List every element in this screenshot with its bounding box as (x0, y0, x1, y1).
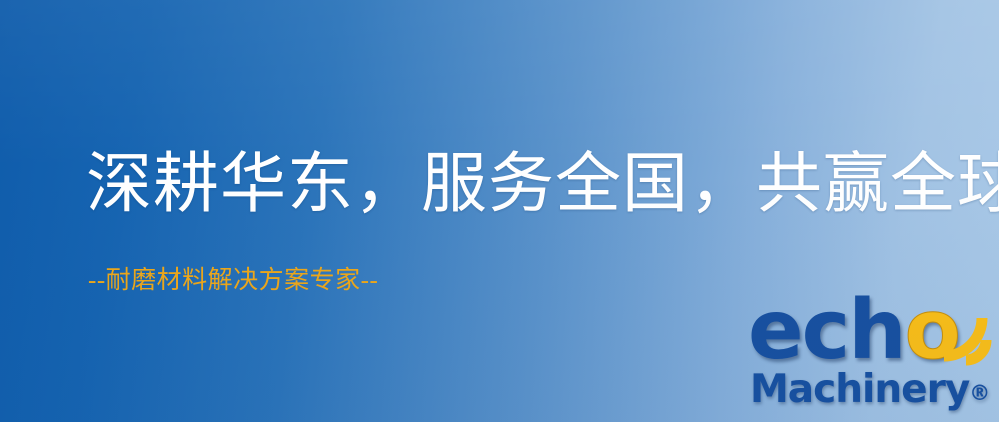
echo-machinery-logo: echo Machinery® (748, 296, 994, 420)
registered-trademark-icon: ® (969, 381, 990, 405)
logo-wordmark-gold-o: o (905, 283, 959, 378)
banner-headline: 深耕华东，服务全国，共赢全球 (86, 152, 999, 218)
logo-subtext: Machinery® (750, 370, 990, 409)
logo-subtext-label: Machinery (750, 367, 969, 412)
logo-wordmark-text: ech (748, 283, 905, 378)
banner-subtitle: --耐磨材料解决方案专家-- (88, 268, 378, 293)
promotional-banner: 深耕华东，服务全国，共赢全球 --耐磨材料解决方案专家-- echo Machi… (0, 0, 999, 422)
logo-wordmark: echo (748, 290, 959, 372)
